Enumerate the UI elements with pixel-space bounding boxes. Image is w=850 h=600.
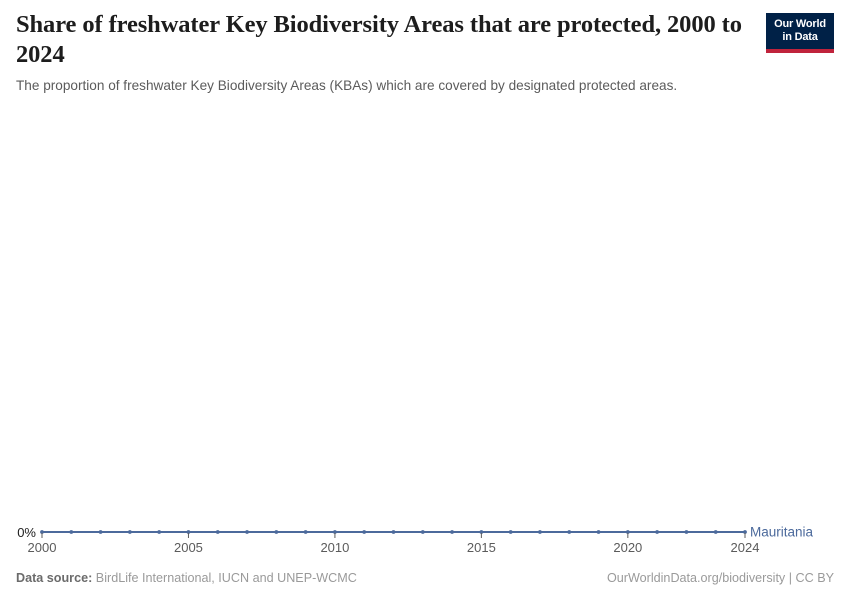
data-point[interactable] bbox=[392, 530, 396, 534]
data-point[interactable] bbox=[69, 530, 73, 534]
data-source-label: Data source: bbox=[16, 571, 92, 585]
series-inline-label[interactable]: Mauritania bbox=[750, 525, 814, 540]
x-axis-tick-label: 2000 bbox=[28, 540, 57, 552]
data-point[interactable] bbox=[304, 530, 308, 534]
data-point[interactable] bbox=[597, 530, 601, 534]
x-axis-tick-label: 2015 bbox=[467, 540, 496, 552]
series-mauritania[interactable]: Mauritania bbox=[40, 525, 813, 540]
our-world-in-data-logo[interactable]: Our World in Data bbox=[766, 13, 834, 53]
data-point[interactable] bbox=[655, 530, 659, 534]
data-point[interactable] bbox=[538, 530, 542, 534]
x-axis-tick-label: 2005 bbox=[174, 540, 203, 552]
data-point[interactable] bbox=[128, 530, 132, 534]
chart-subtitle: The proportion of freshwater Key Biodive… bbox=[16, 76, 746, 96]
data-point[interactable] bbox=[216, 530, 220, 534]
data-point[interactable] bbox=[157, 530, 161, 534]
data-point[interactable] bbox=[362, 530, 366, 534]
data-point[interactable] bbox=[509, 530, 513, 534]
header-text-block: Share of freshwater Key Biodiversity Are… bbox=[16, 10, 746, 95]
attribution-link[interactable]: OurWorldinData.org/biodiversity | CC BY bbox=[607, 571, 834, 585]
owid-chart: Share of freshwater Key Biodiversity Are… bbox=[0, 0, 850, 600]
logo-line-1: Our World bbox=[774, 18, 826, 30]
x-axis-tick-label: 2020 bbox=[613, 540, 642, 552]
y-axis-tick-label-0: 0% bbox=[17, 525, 36, 540]
x-axis: 200020052010201520202024 bbox=[28, 533, 760, 552]
chart-footer: Data source: BirdLife International, IUC… bbox=[16, 571, 834, 589]
data-point[interactable] bbox=[421, 530, 425, 534]
data-point[interactable] bbox=[685, 530, 689, 534]
logo-line-2: in Data bbox=[782, 31, 817, 43]
x-axis-tick-label: 2010 bbox=[320, 540, 349, 552]
chart-svg: 0% Mauritania 200020052010201520202024 bbox=[0, 100, 850, 552]
data-point[interactable] bbox=[245, 530, 249, 534]
data-point[interactable] bbox=[274, 530, 278, 534]
data-source-note: Data source: BirdLife International, IUC… bbox=[16, 571, 357, 585]
data-point[interactable] bbox=[450, 530, 454, 534]
data-source-value: BirdLife International, IUCN and UNEP-WC… bbox=[96, 571, 357, 585]
data-point[interactable] bbox=[567, 530, 571, 534]
chart-header: Share of freshwater Key Biodiversity Are… bbox=[16, 10, 834, 96]
data-point[interactable] bbox=[99, 530, 103, 534]
data-point[interactable] bbox=[714, 530, 718, 534]
page-title: Share of freshwater Key Biodiversity Are… bbox=[16, 10, 746, 70]
plot-area: 0% Mauritania 200020052010201520202024 bbox=[0, 100, 850, 552]
x-axis-tick-label: 2024 bbox=[731, 540, 760, 552]
